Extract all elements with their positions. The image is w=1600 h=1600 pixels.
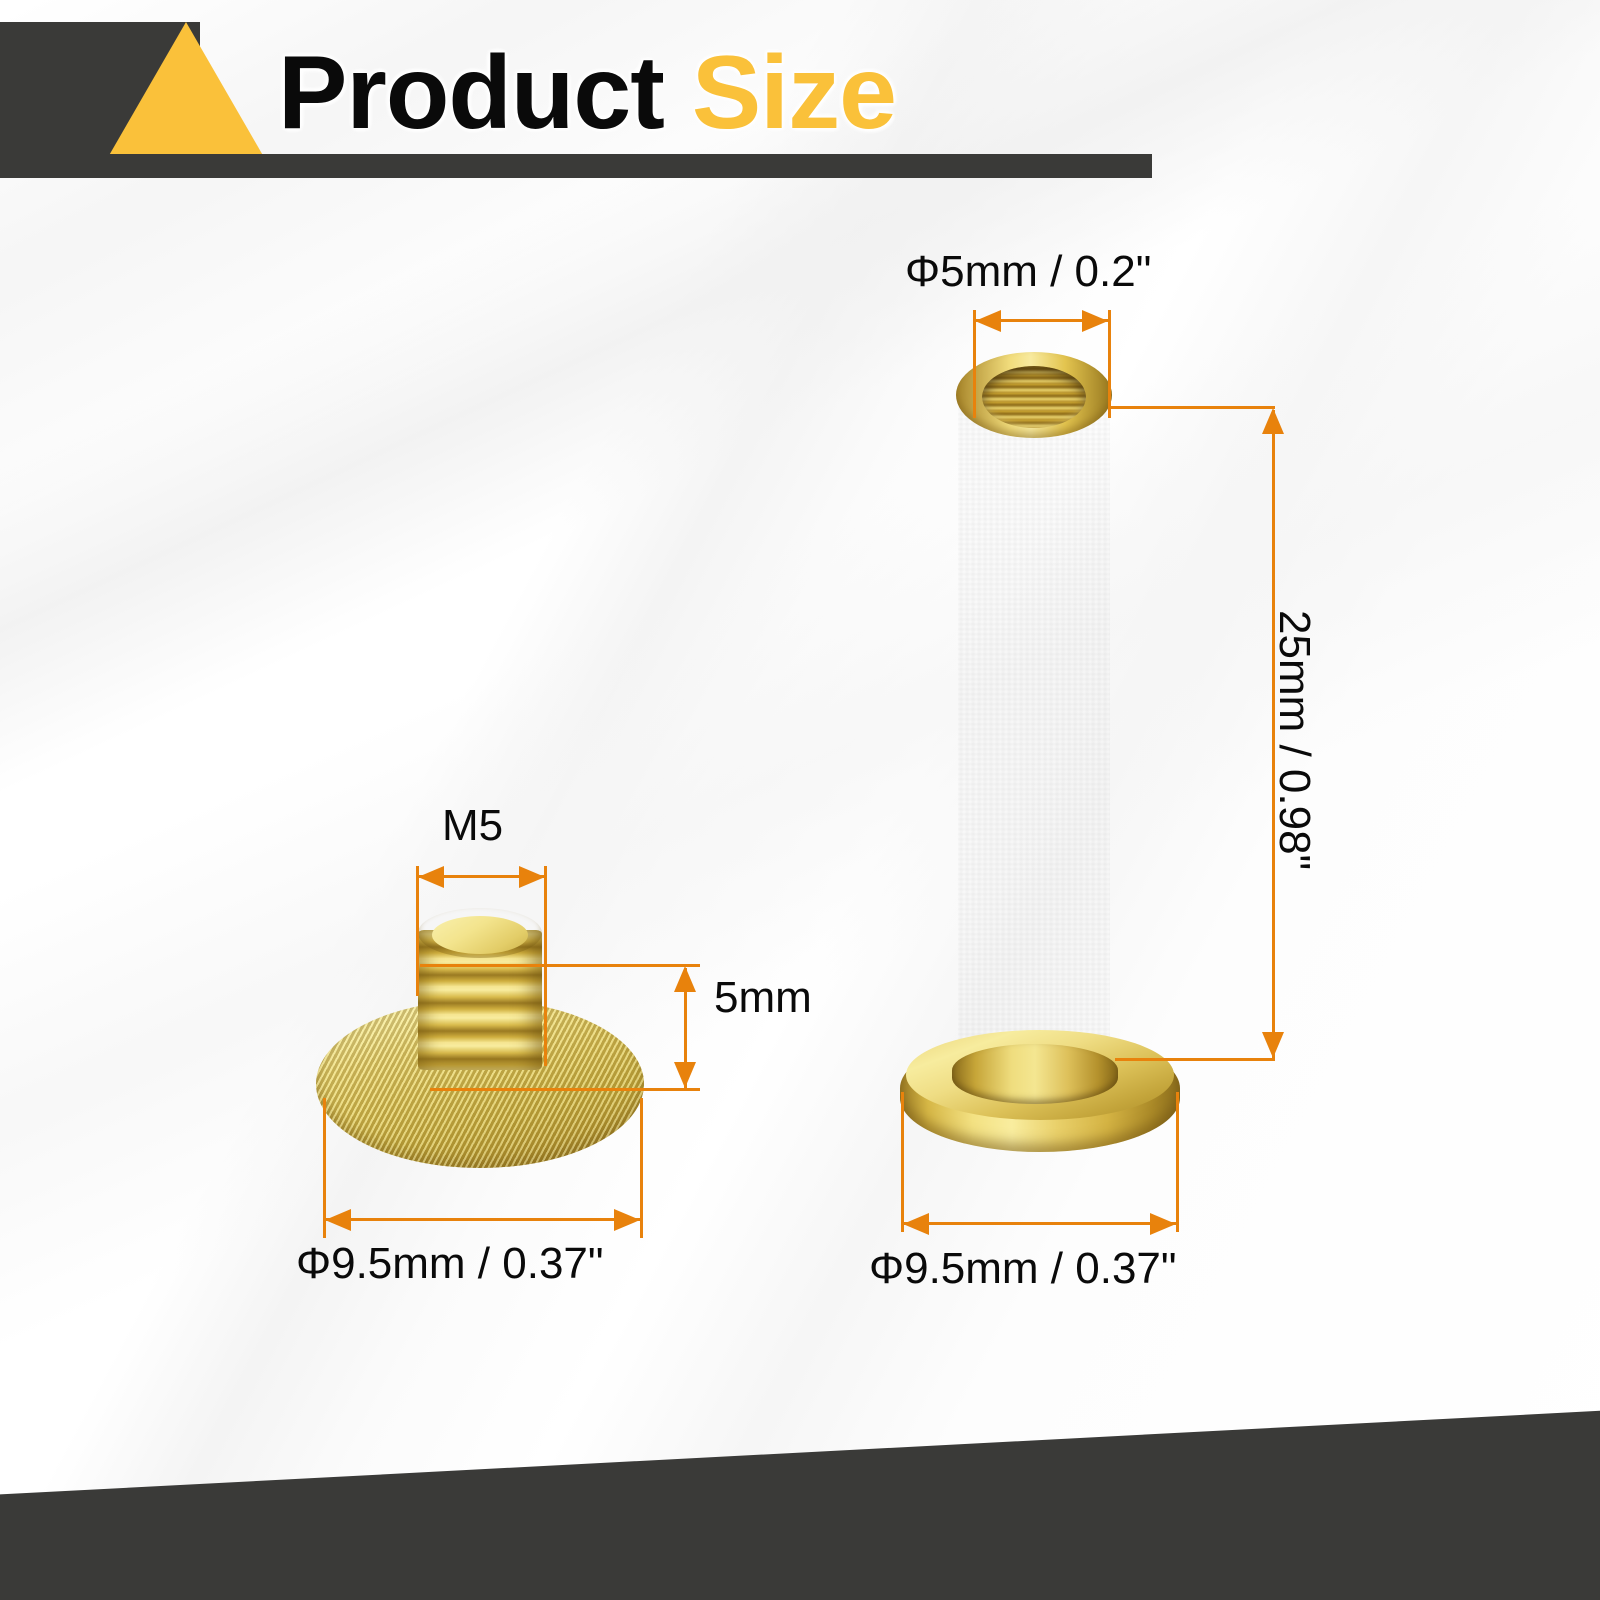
screw-thread-arrow-right <box>519 866 545 888</box>
screw-head-arrow-left <box>325 1209 351 1231</box>
background-light-sweep-bottom <box>0 63 1600 1382</box>
barrel-diameter-arrow-left <box>975 310 1001 332</box>
barrel-shaft <box>958 382 1110 1082</box>
screw-thread-size-label: M5 <box>442 800 503 852</box>
barrel-flange-dim-line <box>903 1222 1177 1225</box>
screw-length-arrow-down <box>674 1062 696 1088</box>
screw-length-arrow-up <box>674 966 696 992</box>
page-title-primary: Product <box>278 35 664 151</box>
barrel-length-arrow-down <box>1262 1032 1284 1058</box>
barrel-flange-arrow-right <box>1150 1213 1176 1235</box>
screw-head-ext-right <box>640 1098 643 1238</box>
screw-head-dim-line <box>325 1218 641 1221</box>
barrel-flange-ext-right <box>1176 1092 1179 1232</box>
screw-thread-length-label: 5mm <box>714 972 812 1024</box>
barrel-length-leader-bottom <box>1115 1058 1275 1061</box>
barrel-flange-diameter-label: Φ9.5mm / 0.37" <box>869 1243 1177 1295</box>
barrel-length-arrow-up <box>1262 408 1284 434</box>
page-title: Product Size <box>278 38 896 148</box>
header-underline-bar <box>0 154 1152 178</box>
footer-dark-wedge <box>0 1380 1600 1600</box>
page-title-accent: Size <box>692 35 896 151</box>
barrel-flange-arrow-left <box>903 1213 929 1235</box>
screw-thread-arrow-left <box>418 866 444 888</box>
barrel-internal-thread-bore <box>982 366 1086 428</box>
screw-head-arrow-right <box>614 1209 640 1231</box>
barrel-flange-ext-left <box>901 1092 904 1232</box>
screw-length-leader-bottom <box>430 1088 700 1091</box>
barrel-length-leader-top <box>1110 406 1275 409</box>
barrel-diameter-ext-right <box>1108 310 1111 418</box>
barrel-length-label: 25mm / 0.98" <box>1268 610 1320 870</box>
screw-head-diameter-label: Φ9.5mm / 0.37" <box>296 1238 604 1290</box>
product-size-infographic: Product Size Φ5mm / 0.2" 25mm / 0.98" Φ9… <box>0 0 1600 1600</box>
screw-post-top-face <box>432 916 528 954</box>
barrel-collar <box>952 1044 1118 1104</box>
barrel-diameter-arrow-right <box>1082 310 1108 332</box>
screw-length-leader-top <box>420 964 700 967</box>
barrel-diameter-label: Φ5mm / 0.2" <box>905 246 1151 298</box>
